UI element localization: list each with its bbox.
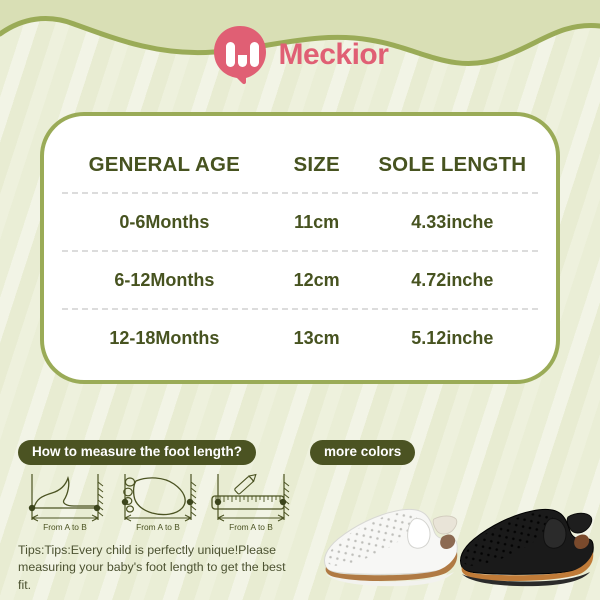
table-header-row: GENERAL AGE SIZE SOLE LENGTH <box>62 138 538 192</box>
column-header-general-age: GENERAL AGE <box>62 153 267 177</box>
cell-sole: 5.12inche <box>367 328 538 349</box>
panel-caption: From A to B <box>229 522 273 532</box>
panel-caption: From A to B <box>136 522 180 532</box>
cell-sole: 4.72inche <box>367 270 538 291</box>
cell-age: 6-12Months <box>62 270 267 291</box>
cell-sole: 4.33inche <box>367 212 538 233</box>
column-header-sole-length: SOLE LENGTH <box>367 153 538 177</box>
cell-size: 12cm <box>267 270 367 291</box>
column-header-size: SIZE <box>267 153 367 177</box>
more-colors-section: more colors <box>310 440 595 595</box>
ruler-pencil-icon <box>212 472 289 521</box>
foot-side-view-icon <box>29 474 103 521</box>
table-row: 0-6Months 11cm 4.33inche <box>62 192 538 250</box>
cell-age: 12-18Months <box>62 328 267 349</box>
shoe-color-variants <box>310 471 595 591</box>
white-baby-slipon-shoe <box>325 509 458 586</box>
measure-guide-section: How to measure the foot length? <box>18 440 308 590</box>
cell-size: 13cm <box>267 328 367 349</box>
table-row: 12-18Months 13cm 5.12inche <box>62 308 538 366</box>
brand-name: Meckior <box>279 40 389 70</box>
table-row: 6-12Months 12cm 4.72inche <box>62 250 538 308</box>
measure-guide-diagrams: From A to B From A to B From A to B <box>18 472 301 534</box>
cell-size: 11cm <box>267 212 367 233</box>
meckior-m-bubble-logo-icon <box>212 25 268 85</box>
brand-header: Meckior <box>0 24 600 86</box>
size-chart-card: GENERAL AGE SIZE SOLE LENGTH 0-6Months 1… <box>40 112 560 384</box>
more-colors-badge: more colors <box>310 440 415 465</box>
measure-tips-text: Tips:Tips:Every child is perfectly uniqu… <box>18 542 298 595</box>
panel-caption: From A to B <box>43 522 87 532</box>
footprint-top-view-icon <box>122 474 196 521</box>
cell-age: 0-6Months <box>62 212 267 233</box>
measure-guide-badge: How to measure the foot length? <box>18 440 256 465</box>
black-baby-slipon-shoe <box>461 509 594 586</box>
